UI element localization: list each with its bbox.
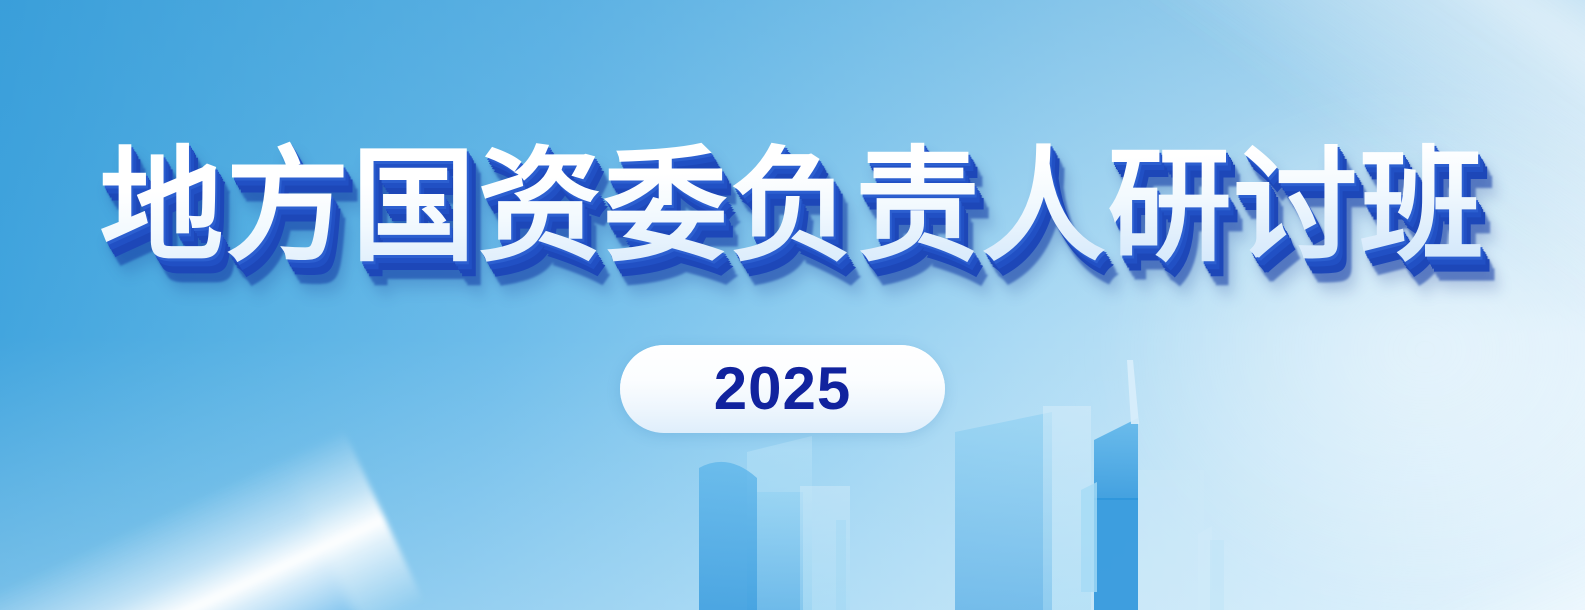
building-mid-block <box>747 436 812 610</box>
banner-title: 地方国资委负责人研讨班 <box>99 136 1485 278</box>
building-center-pale <box>1043 406 1091 610</box>
bottom-left-deep-band <box>0 464 390 610</box>
year-label: 2025 <box>714 359 851 419</box>
banner-title-wrapper: 地方国资委负责人研讨班 <box>0 136 1585 278</box>
building-mid-pale <box>800 486 850 610</box>
top-right-light-ray <box>832 0 1585 348</box>
bottom-right-light-ray <box>1125 456 1585 610</box>
top-right-light-ray-secondary <box>1013 0 1585 416</box>
bottom-left-light-ray <box>0 429 424 610</box>
building-right-stub <box>1198 526 1212 610</box>
building-left-thin <box>757 492 803 610</box>
building-right-stub-shade <box>1210 540 1224 610</box>
building-far-haze <box>1138 470 1204 610</box>
building-slim-post <box>836 520 846 610</box>
building-spire-needle <box>1127 360 1139 424</box>
building-spire-upper <box>1094 418 1138 500</box>
building-spire-fin <box>1081 482 1097 592</box>
building-spire-body <box>1094 498 1138 610</box>
right-soft-glow-decoration <box>1105 90 1585 610</box>
year-badge: 2025 <box>620 345 945 433</box>
building-center-wide <box>955 412 1052 610</box>
event-banner: 地方国资委负责人研讨班 2025 <box>0 0 1585 610</box>
building-left-round <box>699 462 757 610</box>
